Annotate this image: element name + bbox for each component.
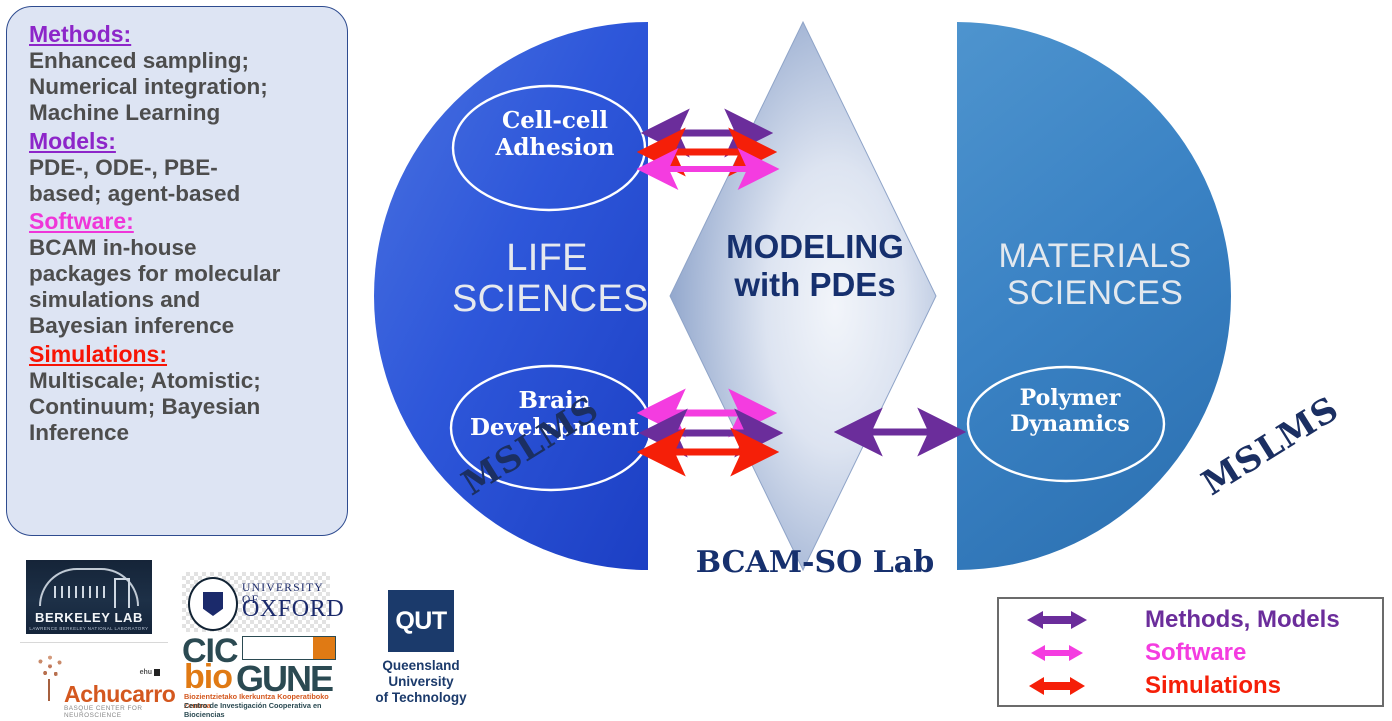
legend-label-simulations: Simulations xyxy=(1145,672,1281,700)
bubble-label-cell-cell-adhesion: Cell-cell Adhesion xyxy=(460,108,650,161)
logo-university-of-oxford: UNIVERSITY OF OXFORD xyxy=(182,572,330,632)
qut-mark-text: QUT xyxy=(395,607,446,636)
legend-swatch-purple-double-arrow-icon xyxy=(1025,609,1089,631)
berkeley-lab-subtitle: LAWRENCE BERKELEY NATIONAL LABORATORY xyxy=(29,626,148,631)
legend-row-software: Software xyxy=(1025,636,1382,669)
logo-achucarro: ehu Achucarro BASQUE CENTER FOR NEUROSCI… xyxy=(20,642,168,712)
berkeley-columns-icon xyxy=(54,586,110,598)
berkeley-tower-icon xyxy=(114,578,130,608)
qut-mark-icon: QUT xyxy=(388,590,454,652)
legend-row-simulations: Simulations xyxy=(1025,669,1382,702)
cic-biogune-bar-icon xyxy=(242,636,336,660)
logo-cic-biogune: CIC bio GUNE Biozientzietako Ikerkuntza … xyxy=(180,634,336,714)
achucarro-subtitle: BASQUE CENTER FOR NEUROSCIENCE xyxy=(64,705,168,719)
modeling-diamond[interactable] xyxy=(670,22,936,570)
legend-label-software: Software xyxy=(1145,639,1246,667)
legend-swatch-magenta-double-arrow-icon xyxy=(1025,642,1089,664)
achucarro-trunk-icon xyxy=(48,679,50,701)
berkeley-lab-name: BERKELEY LAB xyxy=(35,610,143,625)
legend-swatch-red-double-arrow-icon xyxy=(1025,675,1089,697)
logo-qut: QUT Queensland University of Technology xyxy=(366,590,476,710)
achucarro-ehu-group-mark: ehu xyxy=(140,669,160,676)
partner-logos: BERKELEY LAB LAWRENCE BERKELEY NATIONAL … xyxy=(14,556,474,718)
logo-berkeley-lab: BERKELEY LAB LAWRENCE BERKELEY NATIONAL … xyxy=(26,560,152,634)
bubble-label-polymer-dynamics: Polymer Dynamics xyxy=(975,386,1165,437)
cic-subtitle-es: Centro de Investigación Cooperativa en B… xyxy=(184,701,336,719)
legend-label-methods-models: Methods, Models xyxy=(1145,606,1340,634)
oxford-line2: OXFORD xyxy=(242,596,344,623)
bcam-so-lab-caption: BCAM-SO Lab xyxy=(670,545,960,580)
life-sciences-sector[interactable] xyxy=(374,22,648,570)
materials-sciences-sector[interactable] xyxy=(957,22,1231,570)
legend-row-methods-models: Methods, Models xyxy=(1025,603,1382,636)
qut-name: Queensland University of Technology xyxy=(366,658,476,707)
oxford-crest-icon xyxy=(188,577,238,631)
arrow-legend: Methods, Models Software Simulations xyxy=(997,597,1384,707)
achucarro-name: Achucarro xyxy=(64,681,175,708)
